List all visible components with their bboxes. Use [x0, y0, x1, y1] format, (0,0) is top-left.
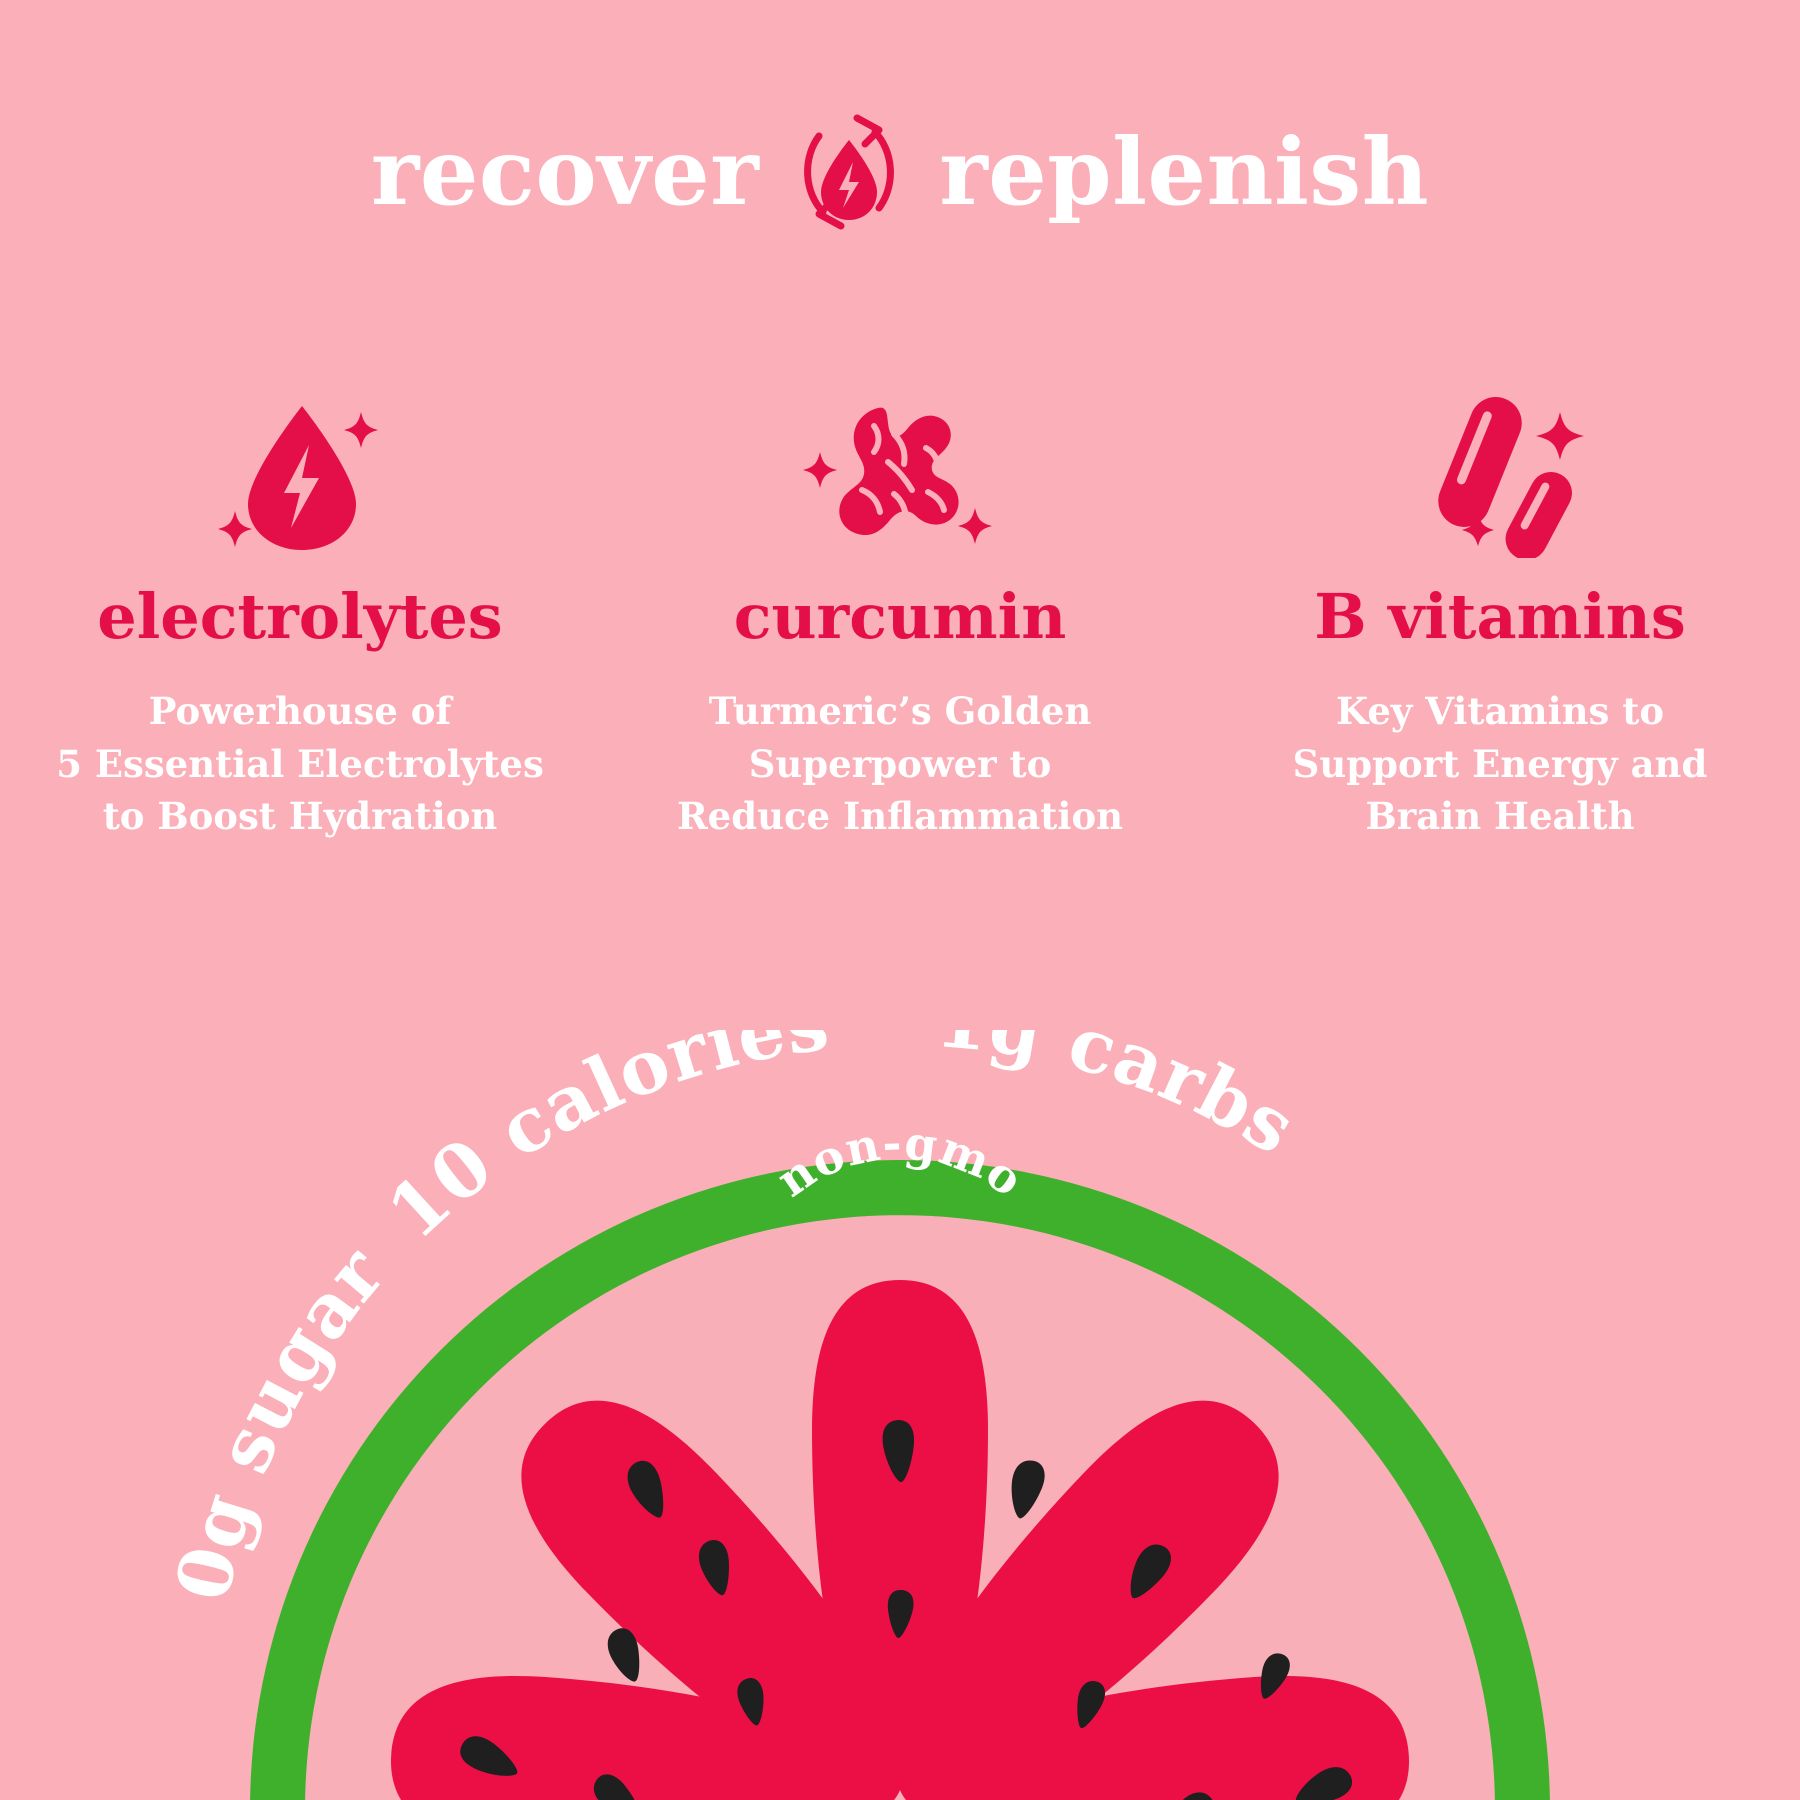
- benefit-description-line: 5 Essential Electrolytes: [20, 738, 580, 791]
- benefit-description-line: Reduce Inflammation: [620, 790, 1180, 843]
- benefit-description: Turmeric’s Golden Superpower to Reduce I…: [620, 685, 1180, 843]
- benefit-title: curcumin: [734, 584, 1067, 649]
- benefit-electrolytes: electrolytes Powerhouse of 5 Essential E…: [0, 388, 600, 843]
- benefit-title: electrolytes: [97, 584, 502, 649]
- benefit-description-line: Brain Health: [1220, 790, 1780, 843]
- benefit-description-line: Superpower to: [620, 738, 1180, 791]
- benefit-description: Key Vitamins to Support Energy and Brain…: [1220, 685, 1780, 843]
- watermelon-graphic: non-gmo 0g sugar 10 calories 1g carbs: [0, 1030, 1800, 1800]
- header: recover replenish: [0, 106, 1800, 238]
- benefit-b-vitamins: B vitamins Key Vitamins to Support Energ…: [1200, 388, 1800, 843]
- benefit-title: B vitamins: [1314, 584, 1686, 649]
- benefit-description-line: to Boost Hydration: [20, 790, 580, 843]
- ginger-root-icon: [802, 388, 998, 558]
- benefits-row: electrolytes Powerhouse of 5 Essential E…: [0, 388, 1800, 843]
- benefit-description-line: Key Vitamins to: [1220, 685, 1780, 738]
- benefit-description-line: Powerhouse of: [20, 685, 580, 738]
- header-word-replenish: replenish: [939, 126, 1429, 218]
- header-word-recover: recover: [371, 126, 759, 218]
- poster-canvas: recover replenish: [0, 0, 1800, 1800]
- benefit-curcumin: curcumin Turmeric’s Golden Superpower to…: [600, 388, 1200, 843]
- capsule-pills-icon: [1402, 388, 1598, 558]
- benefit-description: Powerhouse of 5 Essential Electrolytes t…: [20, 685, 580, 843]
- water-droplet-bolt-icon: [210, 388, 390, 558]
- refresh-droplet-icon: [787, 106, 911, 238]
- benefit-description-line: Support Energy and: [1220, 738, 1780, 791]
- benefit-description-line: Turmeric’s Golden: [620, 685, 1180, 738]
